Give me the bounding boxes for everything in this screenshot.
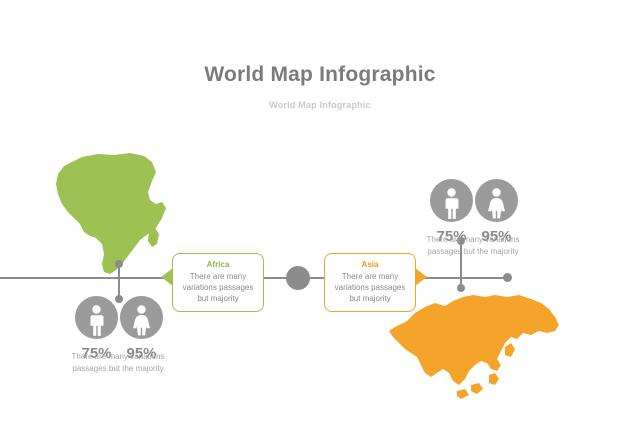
asia-stats-description: There are many variations passages but t…	[413, 234, 533, 257]
asia-callout-card[interactable]: Asia There are many variations passages …	[324, 253, 416, 312]
africa-stats-description: There are many variations passages but t…	[58, 351, 178, 374]
female-person-icon[interactable]	[475, 179, 518, 222]
africa-callout-card[interactable]: Africa There are many variations passage…	[172, 253, 264, 312]
asia-card-pointer-icon	[415, 268, 427, 286]
connector-stem-africa	[118, 263, 120, 299]
africa-stats-group: 75% 95% There are many variations passag…	[58, 296, 178, 365]
asia-stats-group: 75% 95% There are many variations passag…	[413, 179, 533, 248]
asia-card-title: Asia	[332, 260, 408, 269]
africa-stat-icons	[58, 296, 178, 340]
asia-card-body: There are many variations passages but m…	[332, 272, 408, 304]
page-title: World Map Infographic	[0, 63, 640, 87]
africa-card-title: Africa	[180, 260, 256, 269]
connector-dot-africa-top	[115, 260, 123, 268]
timeline-end-dot	[503, 273, 512, 282]
male-person-icon[interactable]	[75, 296, 118, 339]
asia-stat-icons	[413, 179, 533, 223]
infographic-slide: World Map Infographic World Map Infograp…	[0, 0, 640, 443]
page-subtitle: World Map Infographic	[0, 100, 640, 110]
africa-card-body: There are many variations passages but m…	[180, 272, 256, 304]
connector-dot-asia-bottom	[457, 284, 465, 292]
female-person-icon[interactable]	[120, 296, 163, 339]
timeline-center-node[interactable]	[286, 266, 310, 290]
male-person-icon[interactable]	[430, 179, 473, 222]
